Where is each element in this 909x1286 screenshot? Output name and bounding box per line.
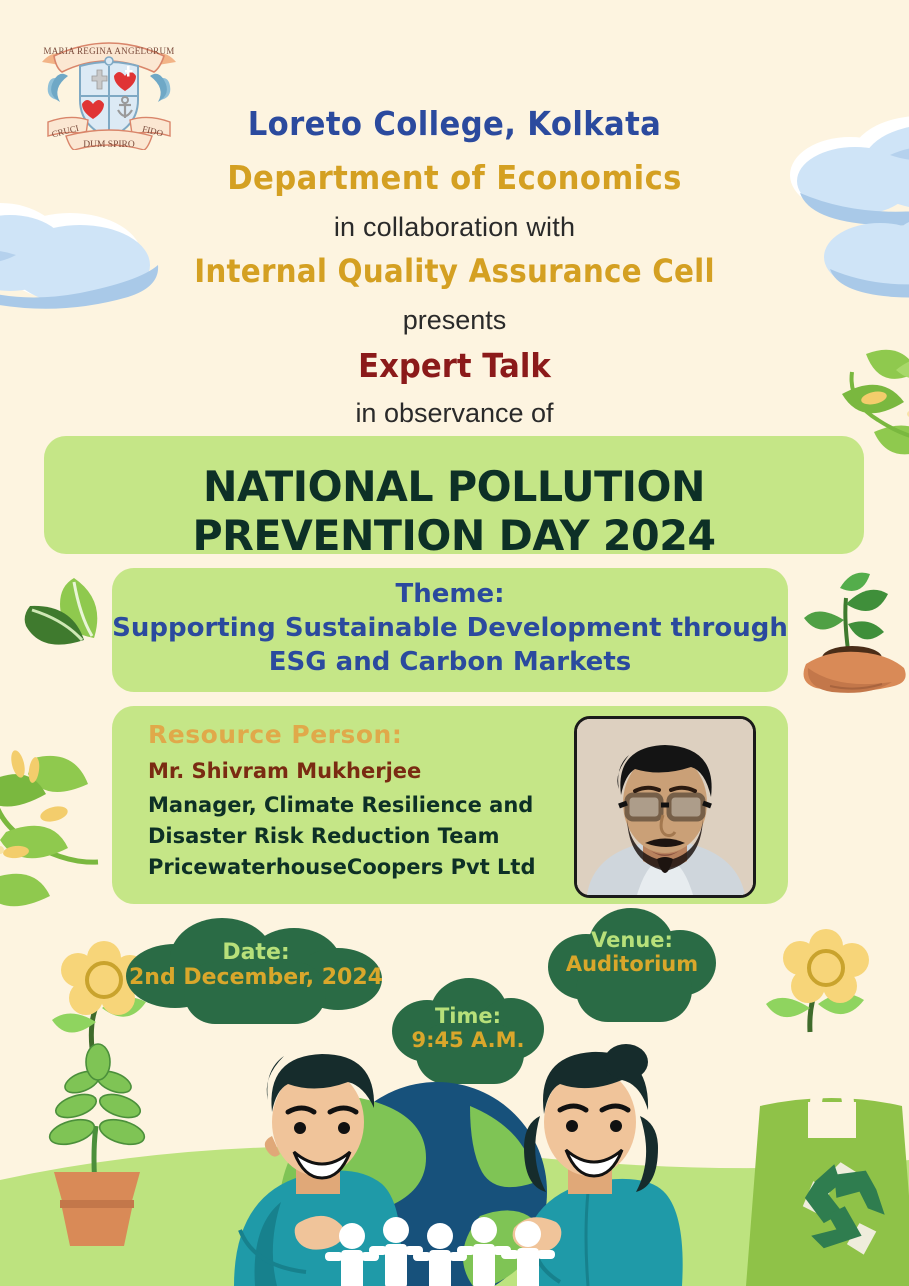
resource-person-photo [574,716,756,898]
theme-label: Theme: [112,578,788,611]
cloud-icon [0,185,210,315]
theme-content: Theme: Supporting Sustainable Developmen… [112,578,788,679]
department-name: Department of Economics [32,158,877,197]
resource-person-designation-2: Disaster Risk Reduction Team [148,821,568,852]
poster-canvas: MARIA REGINA ANGELORUM CRUC [0,0,909,1286]
venue-cloud: Venue: Auditorium [548,908,716,1028]
presents-line: presents [0,305,909,336]
date-cloud: Date: 2nd December, 2024 [126,918,386,1028]
time-value: 9:45 A.M. [392,1028,544,1052]
leaf-icon [12,566,120,676]
venue-value: Auditorium [548,952,716,976]
bottom-illustration [0,1040,909,1286]
recycle-bag-icon [746,1082,909,1286]
resource-person-designation-1: Manager, Climate Resilience and [148,790,568,821]
theme-line-1: Supporting Sustainable Development throu… [112,611,788,645]
paper-people-chain-icon [325,1217,555,1286]
venue-label: Venue: [548,928,716,952]
resource-person-details: Resource Person: Mr. Shivram Mukherjee M… [148,720,568,883]
observance-line: in observance of [0,398,909,429]
resource-person-name: Mr. Shivram Mukherjee [148,759,568,783]
theme-line-2: ESG and Carbon Markets [112,645,788,679]
crest-top-banner-text: MARIA REGINA ANGELORUM [43,46,174,56]
flower-icon [758,920,888,1050]
time-label: Time: [392,1004,544,1028]
collaboration-line: in collaboration with [0,212,909,243]
day-banner-title: NATIONAL POLLUTION PREVENTION DAY 2024 [52,462,856,560]
college-name: Loreto College, Kolkata [32,104,877,143]
partner-name: Internal Quality Assurance Cell [36,252,872,290]
event-type-title: Expert Talk [32,346,877,385]
date-label: Date: [126,940,386,965]
resource-person-organisation: PricewaterhouseCoopers Pvt Ltd [148,852,568,883]
hand-holding-seedling-icon [790,566,909,696]
date-value: 2nd December, 2024 [126,965,386,990]
resource-person-label: Resource Person: [148,720,568,749]
